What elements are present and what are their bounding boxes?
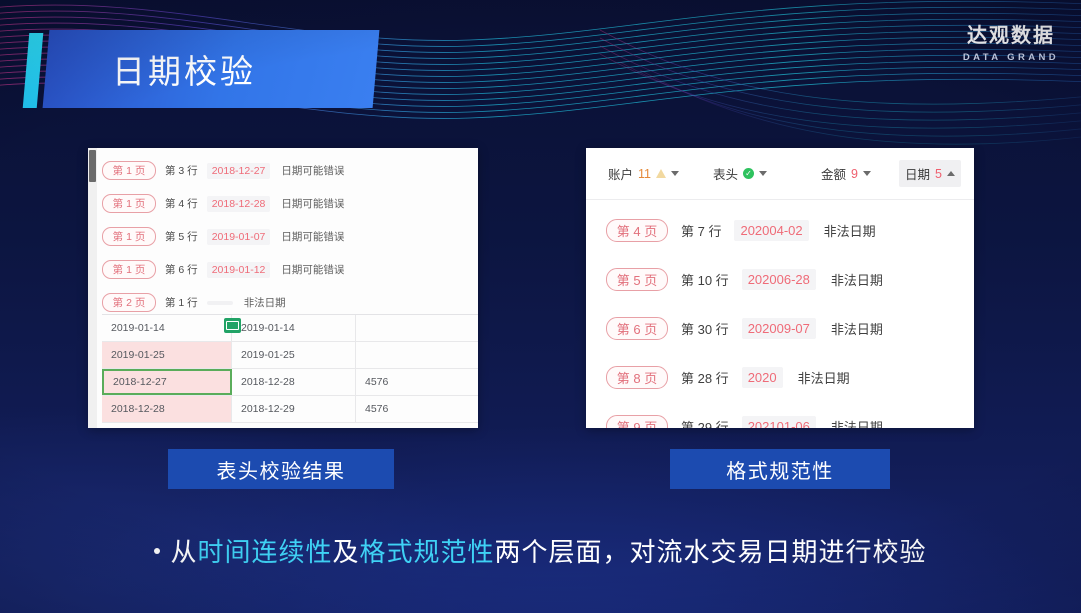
date-value: 2019-01-07: [207, 229, 271, 245]
page-badge: 第 1 页: [102, 161, 156, 180]
spreadsheet-table: 2019-01-14 2019-01-14 2019-01-25 2019-01…: [102, 314, 478, 423]
table-row[interactable]: 2019-01-14 2019-01-14: [102, 315, 478, 342]
date-value: 2020: [742, 367, 783, 388]
issue-message: 非法日期: [824, 221, 876, 240]
page-badge: 第 6 页: [606, 317, 668, 340]
list-item[interactable]: 第 4 页 第 7 行 202004-02 非法日期: [606, 206, 968, 255]
excel-paste-icon[interactable]: [224, 318, 241, 333]
page-badge: 第 2 页: [102, 293, 156, 312]
tab-account-label: 账户: [608, 164, 633, 183]
table-cell[interactable]: 2019-01-14: [102, 315, 232, 341]
chevron-down-icon[interactable]: [671, 171, 679, 176]
tab-date[interactable]: 日期 5: [899, 160, 961, 187]
chevron-down-icon[interactable]: [863, 171, 871, 176]
chevron-down-icon[interactable]: [759, 171, 767, 176]
list-item[interactable]: 第 8 页 第 28 行 2020 非法日期: [606, 353, 968, 402]
issue-message: 非法日期: [244, 295, 286, 310]
page-badge: 第 4 页: [606, 219, 668, 242]
bullet-dot-icon: [154, 548, 160, 554]
validation-tabs: 账户 11 表头 ✓ 金额 9 日期 5: [586, 148, 974, 200]
left-issue-list: 第 1 页 第 3 行 2018-12-27 日期可能错误 第 1 页 第 4 …: [102, 154, 474, 319]
table-cell[interactable]: 2019-01-25: [102, 342, 232, 368]
table-cell[interactable]: 4576: [356, 369, 476, 395]
date-value: 2018-12-27: [207, 163, 271, 179]
tab-account[interactable]: 账户 11: [602, 160, 685, 187]
footer-bullet-line: 从 时间连续性 及 格式规范性 两个层面，对流水交易日期进行校验: [0, 532, 1081, 569]
table-row[interactable]: 2019-01-25 2019-01-25: [102, 342, 478, 369]
issue-message: 日期可能错误: [281, 196, 344, 211]
issue-message: 日期可能错误: [281, 262, 344, 277]
caption-left: 表头校验结果: [168, 449, 394, 489]
row-number: 第 29 行: [681, 417, 729, 428]
row-number: 第 6 行: [165, 262, 198, 277]
page-badge: 第 5 页: [606, 268, 668, 291]
page-title: 日期校验: [112, 30, 256, 108]
left-screenshot-panel: 第 1 页 第 3 行 2018-12-27 日期可能错误 第 1 页 第 4 …: [88, 148, 478, 428]
row-number: 第 5 行: [165, 229, 198, 244]
right-screenshot-panel: 账户 11 表头 ✓ 金额 9 日期 5: [586, 148, 974, 428]
table-row[interactable]: 2018-12-28 2018-12-29 4576: [102, 396, 478, 423]
tab-date-label: 日期: [905, 164, 930, 183]
table-cell[interactable]: 2018-12-29: [232, 396, 356, 422]
row-number: 第 30 行: [681, 319, 729, 338]
left-panel-scrollbar[interactable]: [88, 148, 97, 428]
page-badge: 第 9 页: [606, 415, 668, 428]
table-cell[interactable]: 2018-12-28: [102, 396, 232, 422]
page-badge: 第 1 页: [102, 194, 156, 213]
date-value: 202004-02: [734, 220, 808, 241]
row-number: 第 7 行: [681, 221, 721, 240]
row-number: 第 3 行: [165, 163, 198, 178]
tab-amount-count: 9: [851, 167, 858, 181]
brand-logo-cn: 达观数据: [963, 26, 1059, 46]
warning-triangle-icon: [656, 169, 666, 178]
table-cell[interactable]: 2019-01-25: [232, 342, 356, 368]
table-row[interactable]: 2018-12-27 2018-12-28 4576: [102, 369, 478, 396]
row-number: 第 28 行: [681, 368, 729, 387]
tab-account-count: 11: [638, 167, 651, 181]
title-accent-bar: [23, 33, 44, 108]
list-item[interactable]: 第 1 页 第 6 行 2019-01-12 日期可能错误: [102, 253, 474, 286]
date-value: 202101-06: [742, 416, 816, 428]
list-item[interactable]: 第 6 页 第 30 行 202009-07 非法日期: [606, 304, 968, 353]
list-item[interactable]: 第 5 页 第 10 行 202006-28 非法日期: [606, 255, 968, 304]
check-circle-icon: ✓: [743, 168, 754, 179]
scrollbar-thumb[interactable]: [89, 150, 96, 182]
table-cell[interactable]: [356, 342, 476, 368]
page-badge: 第 1 页: [102, 260, 156, 279]
list-item[interactable]: 第 1 页 第 4 行 2018-12-28 日期可能错误: [102, 187, 474, 220]
issue-message: 日期可能错误: [281, 229, 344, 244]
tab-header-label: 表头: [713, 164, 738, 183]
chevron-up-icon[interactable]: [947, 171, 955, 176]
footer-segment-highlight: 格式规范性: [360, 532, 495, 569]
date-value: [207, 301, 233, 305]
issue-message: 非法日期: [831, 417, 883, 428]
row-number: 第 10 行: [681, 270, 729, 289]
footer-segment: 从: [170, 532, 197, 569]
date-value: 202006-28: [742, 269, 816, 290]
tab-date-count: 5: [935, 167, 942, 181]
date-value: 202009-07: [742, 318, 816, 339]
issue-message: 非法日期: [831, 270, 883, 289]
brand-logo: 达观数据 DATA GRAND: [963, 26, 1059, 63]
issue-message: 日期可能错误: [281, 163, 344, 178]
list-item[interactable]: 第 1 页 第 5 行 2019-01-07 日期可能错误: [102, 220, 474, 253]
table-cell-selected[interactable]: 2018-12-27: [102, 369, 232, 395]
tab-amount-label: 金额: [821, 164, 846, 183]
table-cell[interactable]: 4576: [356, 396, 476, 422]
page-badge: 第 1 页: [102, 227, 156, 246]
table-cell[interactable]: [356, 315, 476, 341]
table-cell[interactable]: 2018-12-28: [232, 369, 356, 395]
brand-logo-en: DATA GRAND: [963, 53, 1059, 63]
issue-message: 非法日期: [831, 319, 883, 338]
footer-segment-highlight: 时间连续性: [197, 532, 332, 569]
row-number: 第 1 行: [165, 295, 198, 310]
list-item[interactable]: 第 1 页 第 3 行 2018-12-27 日期可能错误: [102, 154, 474, 187]
page-badge: 第 8 页: [606, 366, 668, 389]
issue-message: 非法日期: [798, 368, 850, 387]
tab-header[interactable]: 表头 ✓: [707, 160, 773, 187]
row-number: 第 4 行: [165, 196, 198, 211]
right-issue-list: 第 4 页 第 7 行 202004-02 非法日期 第 5 页 第 10 行 …: [606, 206, 968, 428]
date-value: 2019-01-12: [207, 262, 271, 278]
title-banner: 日期校验: [26, 30, 376, 108]
table-cell[interactable]: 2019-01-14: [232, 315, 356, 341]
slide-root: 达观数据 DATA GRAND 日期校验 第 1 页 第 3 行 2018-12…: [0, 0, 1081, 613]
list-item[interactable]: 第 9 页 第 29 行 202101-06 非法日期: [606, 402, 968, 428]
caption-right: 格式规范性: [670, 449, 890, 489]
tab-amount[interactable]: 金额 9: [815, 160, 877, 187]
footer-segment: 及: [332, 532, 359, 569]
footer-segment: 两个层面，对流水交易日期进行校验: [495, 532, 927, 569]
date-value: 2018-12-28: [207, 196, 271, 212]
